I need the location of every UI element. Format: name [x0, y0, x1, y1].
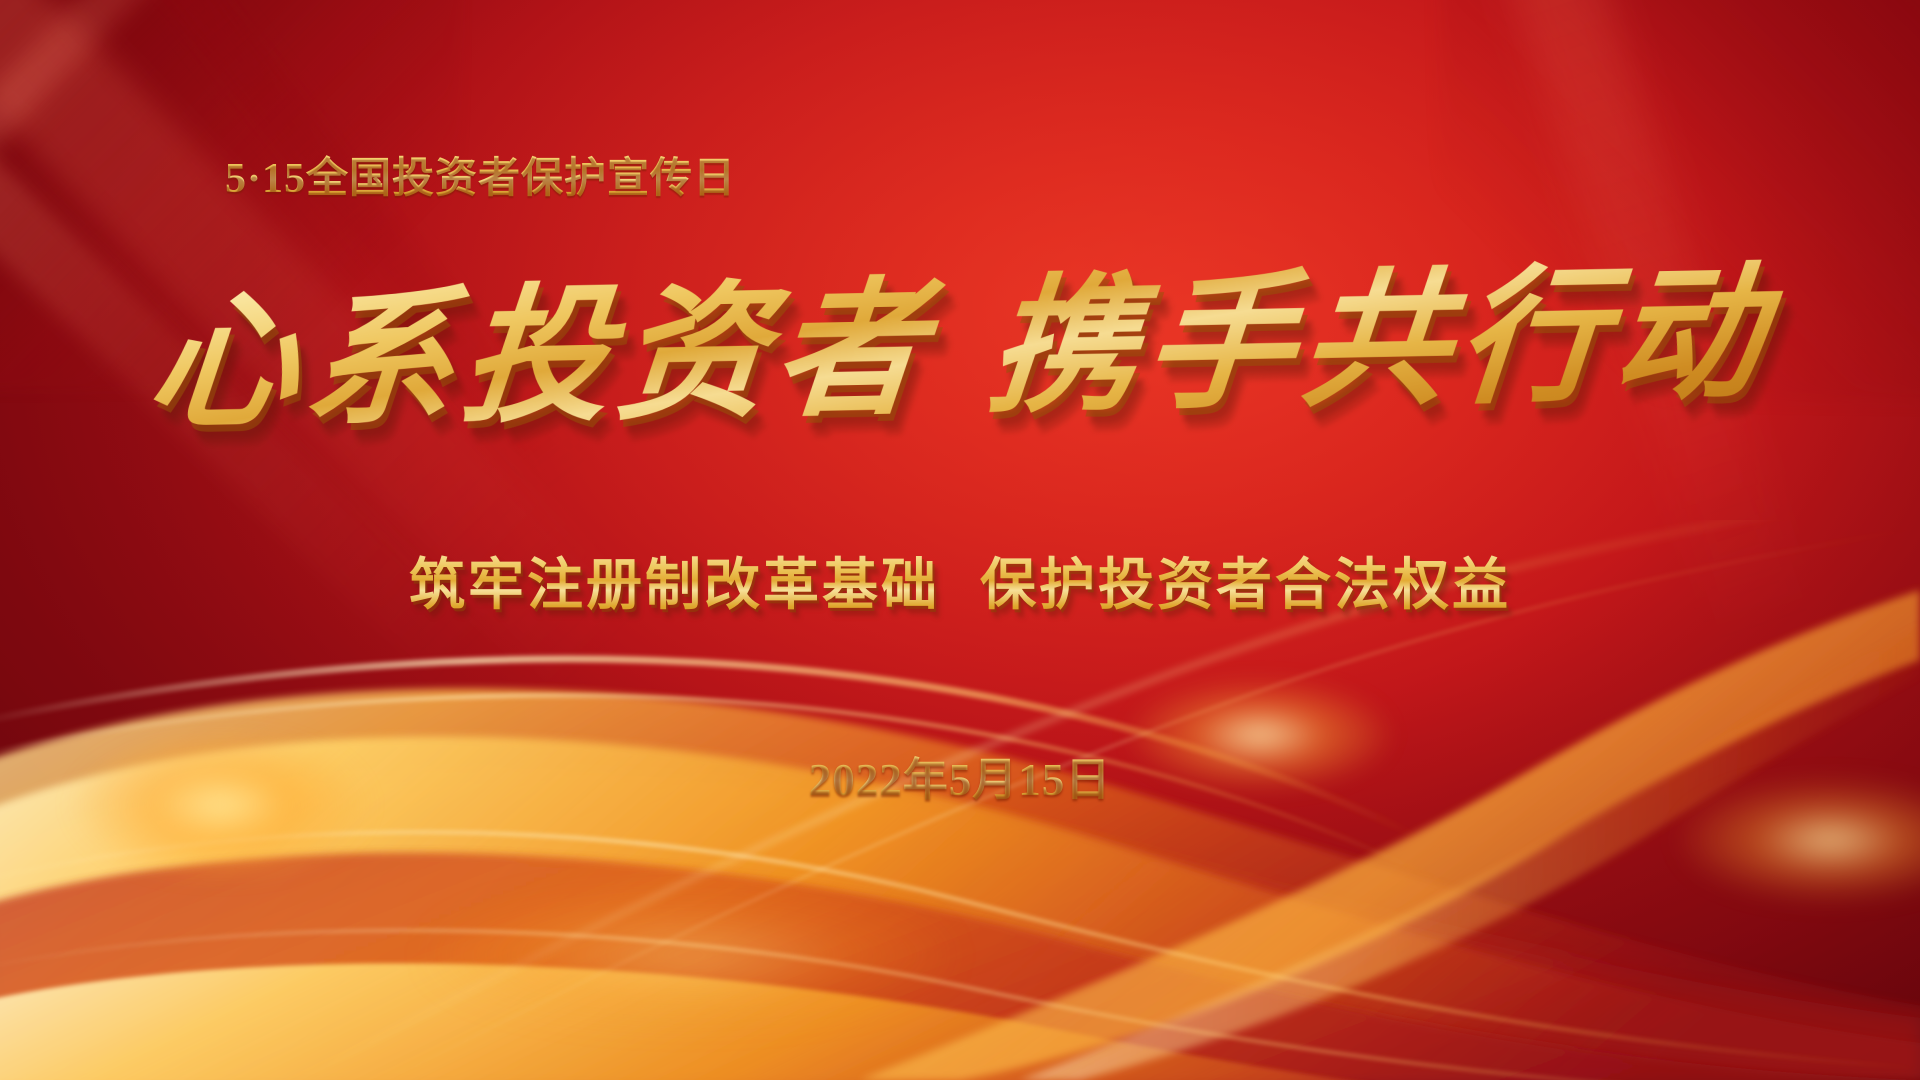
sub-slogan: 筑牢注册制改革基础保护投资者合法权益 — [0, 540, 1920, 621]
sub-slogan-part-1: 筑牢注册制改革基础 — [409, 553, 940, 616]
event-date: 2022年5月15日 — [0, 743, 1920, 808]
investor-protection-day-poster: 5·15全国投资者保护宣传日 心系投资者携手共行动 筑牢注册制改革基础保护投资者… — [0, 0, 1920, 1080]
main-title-part-2: 携手共行动 — [982, 244, 1778, 433]
main-title-part-1: 心系投资者 — [142, 261, 938, 450]
title-spacer — [927, 398, 985, 399]
main-title-calligraphy: 心系投资者携手共行动 — [0, 252, 1920, 444]
sub-slogan-part-2: 保护投资者合法权益 — [980, 553, 1511, 616]
event-name-eyebrow: 5·15全国投资者保护宣传日 — [225, 144, 736, 205]
